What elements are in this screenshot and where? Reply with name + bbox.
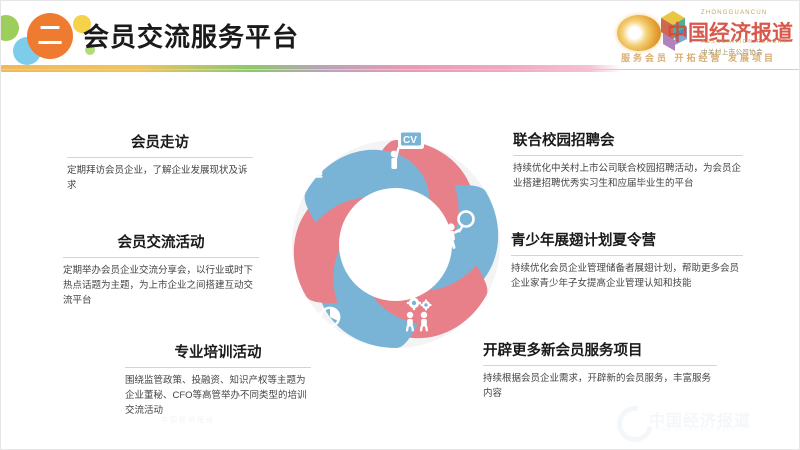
callout-divider: [63, 257, 259, 258]
header-divider: [1, 69, 800, 70]
callout-description: 持续根据会员企业需求，开辟新的会员服务，丰富服务内容: [483, 372, 717, 401]
callout-title: 开辟更多新会员服务项目: [483, 343, 717, 360]
three-people-icon: [256, 222, 283, 247]
callout-member-exchange-activities: 会员交流活动 定期举办会员企业交流分享会，以行业或时下热点话题为主题，为上市企业…: [63, 235, 259, 309]
svg-text:CV: CV: [403, 135, 417, 146]
pinwheel-diagram: CV: [256, 109, 536, 379]
callout-joint-campus-recruitment: 联合校园招聘会 持续优化中关村上市公司联合校园招聘活动，为会员企业搭建招聘优秀实…: [513, 133, 743, 192]
callout-title: 专业培训活动: [125, 345, 311, 362]
callout-description: 围绕监管政策、投融资、知识产权等主题为企业董秘、CFO等高管举办不同类型的培训交…: [125, 374, 311, 418]
section-number-badge: 二: [27, 13, 73, 59]
callout-description: 定期拜访会员企业，了解企业发展现状及诉求: [67, 164, 253, 193]
callout-title: 会员走访: [67, 135, 253, 152]
logo-pinyin-bottom: ASSOCIATION REPORT: [701, 39, 788, 45]
slide-canvas: 二 会员交流服务平台 ZHONGGUANCUN 中国经济报道 ASSOCIATI…: [0, 0, 800, 450]
logo-tagline: 服务会员 开拓经营 发展项目: [621, 51, 776, 64]
callout-divider: [513, 155, 743, 156]
watermark-subtitle: CHINA ECONOMIC REPORT: [649, 427, 747, 433]
callout-divider: [67, 157, 253, 158]
callout-divider: [483, 365, 717, 366]
page-title: 会员交流服务平台: [83, 17, 299, 54]
callout-description: 持续优化会员企业管理储备者展翅计划，帮助更多会员企业家青少年子女提高企业管理认知…: [511, 262, 743, 291]
callout-youth-summer-camp: 青少年展翅计划夏令营 持续优化会员企业管理储备者展翅计划，帮助更多会员企业家青少…: [511, 233, 743, 292]
callout-title: 青少年展翅计划夏令营: [511, 233, 743, 250]
decorative-dot-green: [0, 15, 19, 41]
watermark-center-faint: 中国经济报道: [161, 415, 215, 425]
callout-new-member-services: 开辟更多新会员服务项目 持续根据会员企业需求，开辟新的会员服务，丰富服务内容: [483, 343, 717, 402]
callout-divider: [125, 367, 311, 368]
callout-divider: [511, 255, 743, 256]
callout-professional-training: 专业培训活动 围绕监管政策、投融资、知识产权等主题为企业董秘、CFO等高管举办不…: [125, 345, 311, 419]
callout-title: 会员交流活动: [63, 235, 259, 252]
callout-description: 定期举办会员企业交流分享会，以行业或时下热点话题为主题，为上市企业之间搭建互动交…: [63, 264, 259, 308]
callout-title: 联合校园招聘会: [513, 133, 743, 150]
pinwheel-center-hole: [339, 188, 452, 301]
organization-logo: ZHONGGUANCUN 中国经济报道 ASSOCIATION REPORT 中…: [615, 5, 791, 63]
group-people-icon: [293, 153, 322, 178]
callout-member-visits: 会员走访 定期拜访会员企业，了解企业发展现状及诉求: [67, 135, 253, 194]
callout-description: 持续优化中关村上市公司联合校园招聘活动，为会员企业搭建招聘优秀实习生和应届毕业生…: [513, 162, 743, 191]
logo-pinyin-top: ZHONGGUANCUN: [701, 10, 767, 16]
slide-header: 二 会员交流服务平台 ZHONGGUANCUN 中国经济报道 ASSOCIATI…: [1, 1, 800, 73]
watermark-bottom-right: 中国经济报道 CHINA ECONOMIC REPORT: [617, 403, 793, 437]
